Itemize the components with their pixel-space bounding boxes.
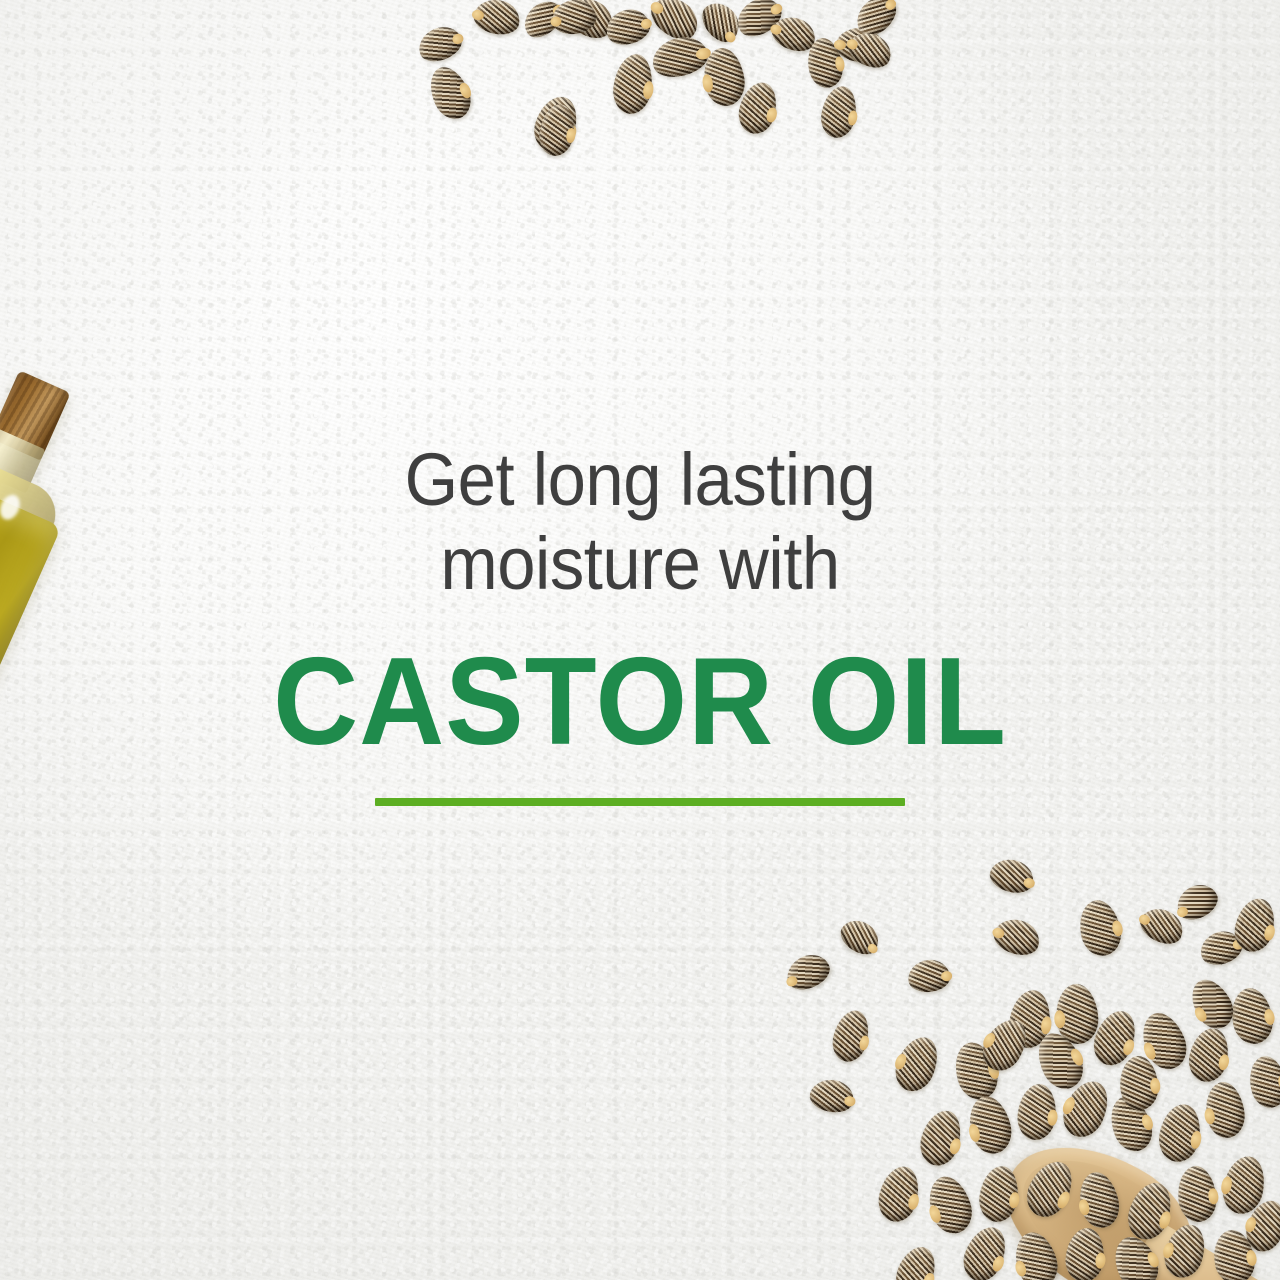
castor-seed	[828, 1007, 874, 1066]
castor-seed	[1009, 1228, 1063, 1280]
castor-seed	[1063, 1226, 1106, 1280]
castor-seed	[1107, 1230, 1166, 1280]
headline-line-1: Get long lasting	[45, 438, 1235, 522]
castor-seed	[990, 914, 1044, 961]
castor-seed	[874, 1162, 924, 1226]
title-underline-divider	[375, 798, 905, 806]
castor-seed	[906, 958, 951, 994]
castor-seed	[835, 913, 885, 960]
castor-seed	[1185, 1025, 1233, 1086]
castor-seed	[1019, 1154, 1080, 1224]
castor-seed	[648, 32, 712, 82]
castor-seed	[818, 83, 861, 140]
headline-block: Get long lasting moisture with CASTOR OI…	[0, 438, 1280, 806]
castor-seed	[957, 1221, 1013, 1280]
castor-seed	[414, 21, 467, 67]
castor-seed	[1175, 1164, 1219, 1224]
product-title: CASTOR OIL	[32, 638, 1248, 766]
castor-seeds-top-cluster	[0, 0, 1280, 200]
castor-seed	[781, 948, 834, 995]
castor-seed	[976, 1164, 1021, 1225]
headline-line-2: moisture with	[45, 522, 1235, 606]
castor-seed	[922, 1171, 978, 1239]
castor-seed	[915, 1106, 967, 1170]
castor-seed	[602, 5, 654, 50]
castor-seed	[1122, 1177, 1178, 1245]
castor-seed	[610, 52, 656, 117]
castor-seed	[889, 1031, 945, 1097]
castor-seed	[1155, 1101, 1204, 1165]
castor-seed	[423, 61, 478, 125]
castor-seed	[1015, 1082, 1059, 1142]
castor-seed	[471, 0, 523, 38]
castor-seed	[1075, 896, 1126, 959]
castor-seed	[808, 1076, 857, 1115]
castor-seed	[1245, 1053, 1280, 1111]
castor-seed	[964, 1092, 1017, 1158]
castor-seed	[890, 1241, 942, 1280]
castor-seed	[986, 855, 1037, 898]
castor-seed	[1227, 985, 1276, 1047]
castor-oil-banner: Get long lasting moisture with CASTOR OI…	[0, 0, 1280, 1280]
castor-seed	[1183, 972, 1240, 1035]
headline: Get long lasting moisture with	[45, 438, 1235, 606]
castor-seed	[1075, 1169, 1124, 1232]
castor-seed	[1202, 1080, 1247, 1141]
castor-seeds-bottom-cluster	[780, 860, 1280, 1280]
castor-seed	[1159, 1220, 1210, 1280]
